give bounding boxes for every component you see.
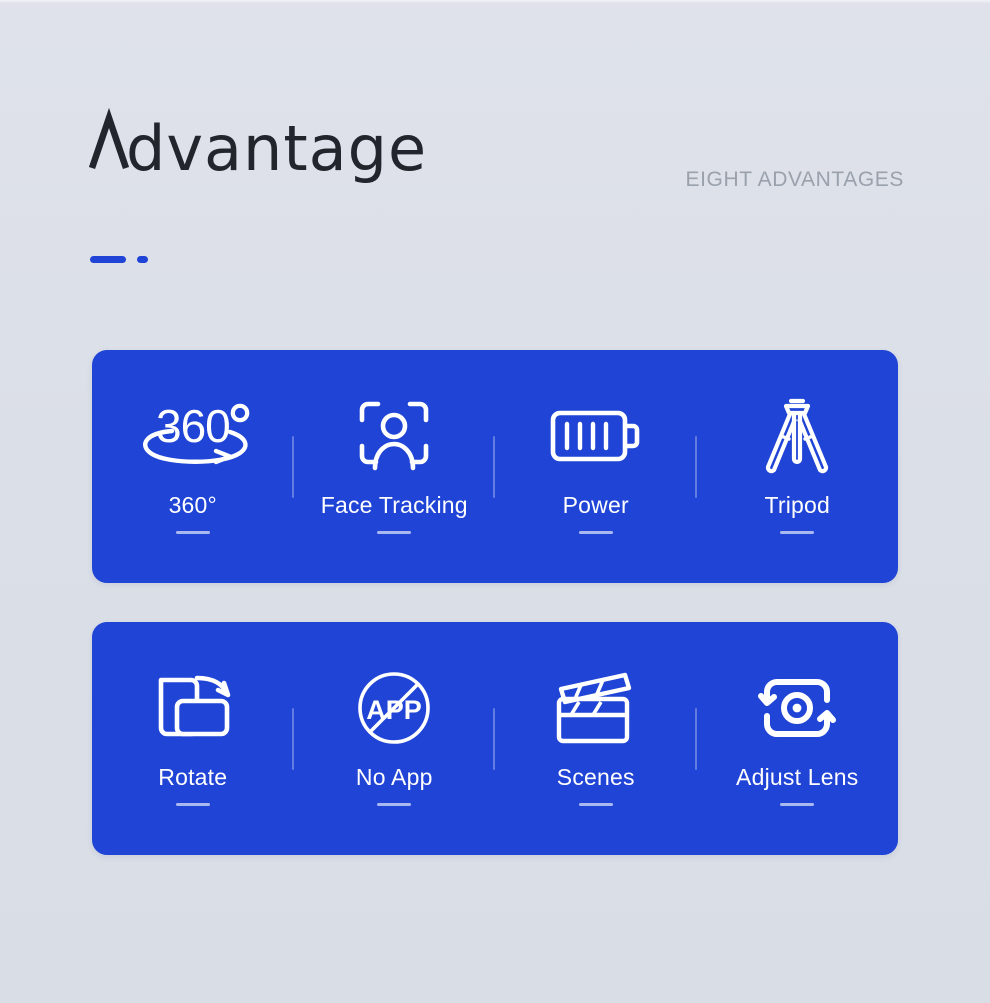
svg-text:360: 360 [156, 400, 230, 452]
label-underline [176, 531, 210, 534]
advantage-page: dvantage EIGHT ADVANTAGES 360 [0, 0, 990, 1003]
page-subtitle: EIGHT ADVANTAGES [686, 168, 904, 192]
page-title-text: dvantage [126, 115, 427, 183]
feature-rotate[interactable]: Rotate [92, 622, 294, 855]
feature-label: Adjust Lens [736, 764, 858, 791]
label-underline [780, 531, 814, 534]
feature-list-row-1: 360 360° [92, 350, 898, 583]
label-underline [579, 803, 613, 806]
accent-dash-icon [90, 256, 126, 263]
clapperboard-icon [553, 654, 639, 762]
accent-marker [90, 256, 148, 263]
advantages-card-row-1: 360 360° [92, 350, 898, 583]
feature-tripod[interactable]: Tripod [697, 350, 899, 583]
accent-dot-icon [137, 256, 148, 263]
advantages-card-row-2: Rotate APP No App [92, 622, 898, 855]
page-top-edge [0, 0, 990, 3]
label-underline [579, 531, 613, 534]
battery-icon [550, 382, 642, 490]
page-title: dvantage [88, 108, 427, 183]
feature-label: Face Tracking [321, 492, 468, 519]
rotate-360-icon: 360 [130, 382, 256, 490]
feature-power[interactable]: Power [495, 350, 697, 583]
page-header: dvantage EIGHT ADVANTAGES [0, 108, 990, 278]
face-tracking-icon [358, 382, 430, 490]
feature-360[interactable]: 360 360° [92, 350, 294, 583]
feature-label: Scenes [557, 764, 635, 791]
rotate-screen-icon [151, 654, 235, 762]
feature-scenes[interactable]: Scenes [495, 622, 697, 855]
feature-label: Tripod [764, 492, 830, 519]
feature-adjust-lens[interactable]: Adjust Lens [697, 622, 899, 855]
feature-list-row-2: Rotate APP No App [92, 622, 898, 855]
feature-label: Rotate [158, 764, 227, 791]
feature-face-tracking[interactable]: Face Tracking [294, 350, 496, 583]
tripod-icon [759, 382, 835, 490]
title-triangular-a-icon [88, 108, 128, 170]
feature-label: 360° [169, 492, 217, 519]
label-underline [377, 531, 411, 534]
no-app-icon: APP [355, 654, 433, 762]
label-underline [377, 803, 411, 806]
label-underline [780, 803, 814, 806]
feature-label: Power [563, 492, 629, 519]
feature-label: No App [356, 764, 433, 791]
camera-flip-icon [759, 654, 835, 762]
feature-no-app[interactable]: APP No App [294, 622, 496, 855]
label-underline [176, 803, 210, 806]
